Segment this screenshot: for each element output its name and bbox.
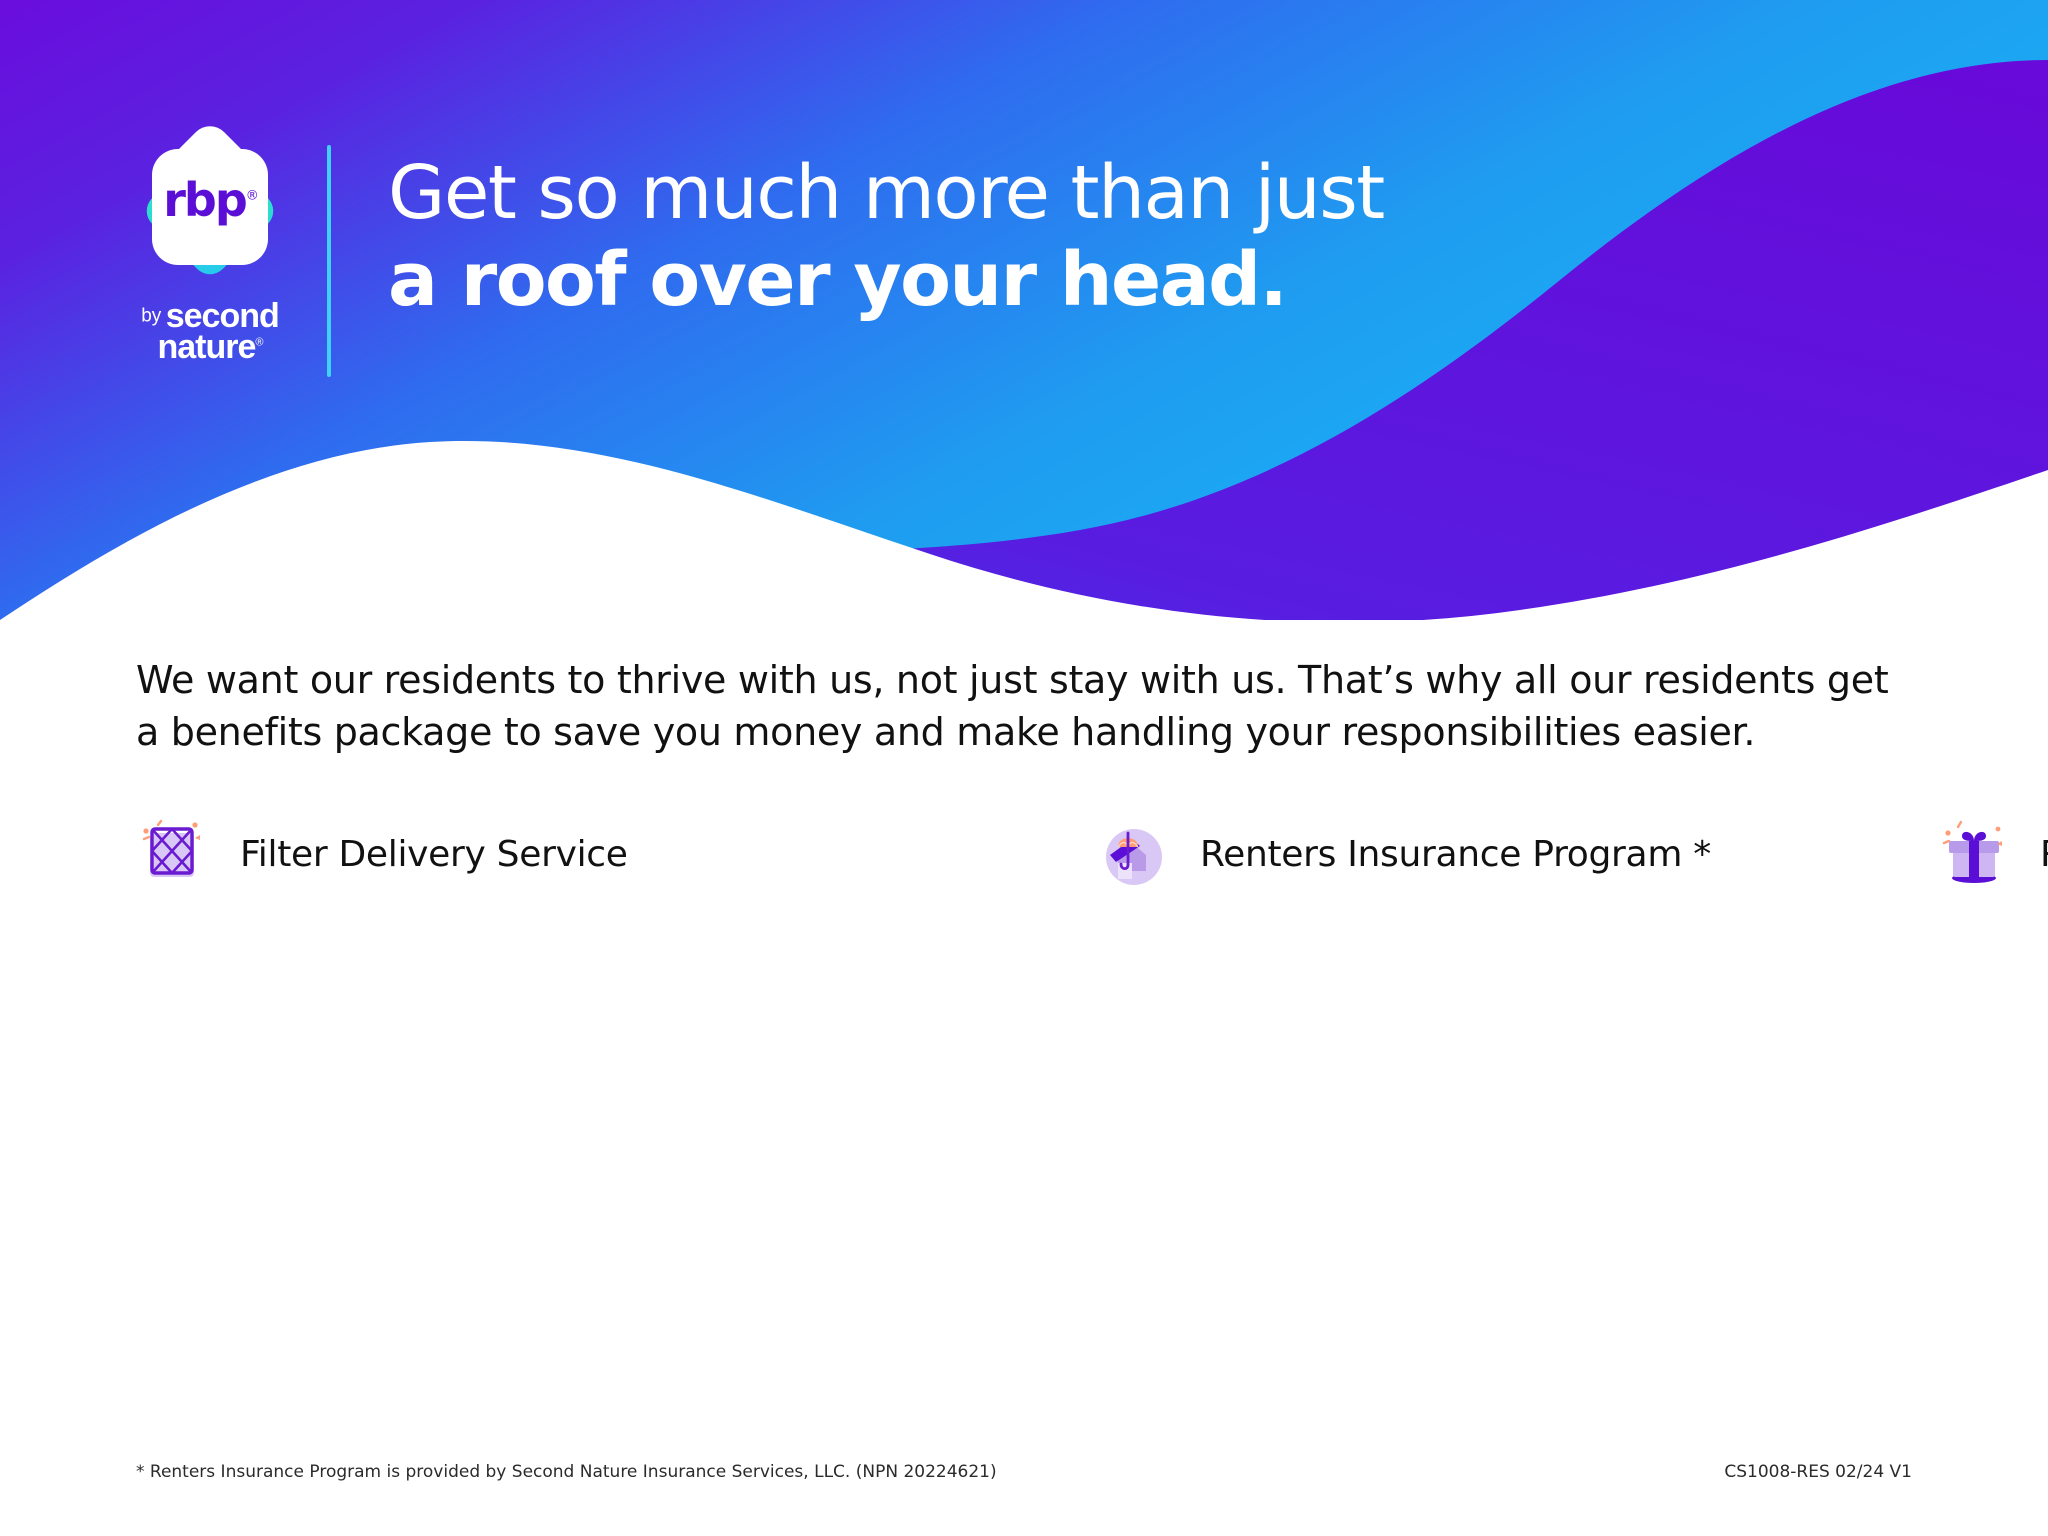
- intro-paragraph: We want our residents to thrive with us,…: [136, 655, 1916, 758]
- page-title: Get so much more than just a roof over y…: [388, 150, 1384, 325]
- benefit-label: Resident Rewards Program: [2040, 834, 2048, 875]
- hero-banner: rbp® by second nature® Get so much more …: [0, 0, 2048, 620]
- benefit-item-filter-delivery-service: Filter Delivery Service: [136, 800, 1096, 909]
- gift-box-icon: [1936, 817, 2012, 893]
- air-filter-icon: [136, 817, 212, 893]
- logo-nature-text: nature: [157, 328, 255, 366]
- headline-line-2: a roof over your head.: [388, 237, 1384, 324]
- logo-nature-registered-mark: ®: [255, 336, 262, 348]
- logo-wordmark: rbp®: [134, 177, 286, 223]
- benefit-item-renters-insurance-program: Renters Insurance Program *: [1096, 800, 1936, 909]
- benefits-list: Filter Delivery Service Renters Insuranc…: [136, 800, 1936, 909]
- footer-disclaimer: * Renters Insurance Program is provided …: [136, 1462, 997, 1482]
- benefit-label: Renters Insurance Program *: [1200, 834, 1711, 875]
- hero-vertical-divider: [327, 145, 331, 377]
- footer-doc-code: CS1008-RES 02/24 V1: [1724, 1462, 1912, 1482]
- brand-logo: rbp® by second nature®: [120, 135, 300, 364]
- headline-line-1: Get so much more than just: [388, 150, 1384, 237]
- rbp-logo-mark: rbp®: [134, 135, 286, 287]
- logo-wordmark-text: rbp: [163, 173, 246, 227]
- brand-sub-lockup: by second nature®: [120, 299, 300, 364]
- benefit-item-resident-rewards-program: Resident Rewards Program: [1936, 800, 2048, 909]
- logo-registered-mark: ®: [246, 189, 257, 204]
- benefit-label: Filter Delivery Service: [240, 834, 628, 875]
- logo-by-label: by: [141, 306, 161, 327]
- umbrella-house-icon: [1096, 817, 1172, 893]
